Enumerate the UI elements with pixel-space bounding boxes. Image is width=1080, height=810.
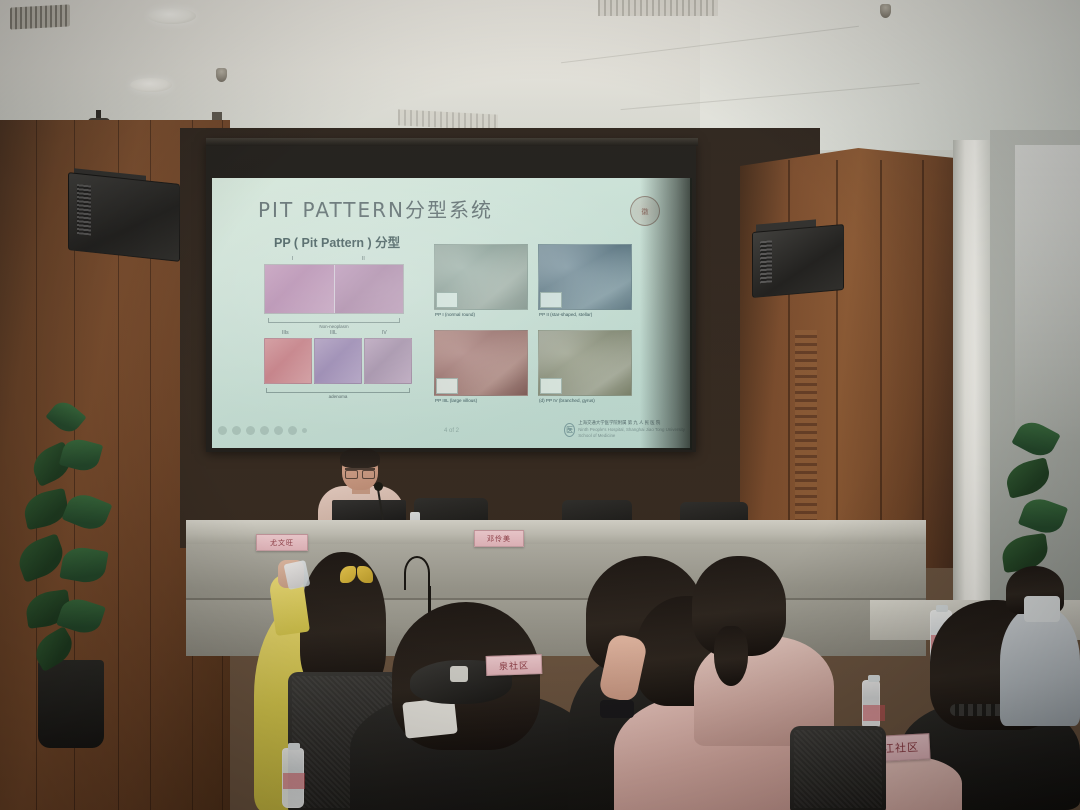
presenter-hair — [340, 448, 380, 468]
endoscopy-caption: PP I (normal round) — [435, 312, 475, 317]
histology-label: IV — [382, 330, 387, 336]
name-card: 尤文旺 — [256, 534, 308, 551]
right-wall-panel-seams — [740, 160, 955, 570]
zoom-icon[interactable] — [260, 426, 269, 435]
histology-label: II — [362, 256, 365, 262]
slides-icon[interactable] — [274, 426, 283, 435]
recessed-light — [130, 78, 172, 92]
speaker-grill — [77, 184, 91, 235]
bow-center-knot — [450, 666, 468, 682]
speaker-grill — [760, 240, 772, 283]
more-icon[interactable] — [288, 426, 297, 435]
slide-title: PIT PATTERN分型系统 — [258, 194, 493, 223]
water-bottle — [862, 680, 880, 730]
histology-image — [264, 338, 312, 384]
gooseneck-microphone — [404, 556, 430, 590]
histology-row-one — [264, 264, 404, 314]
histology-label: I — [292, 256, 293, 262]
name-card: 邓伶美 — [474, 530, 524, 547]
slide-subtitle: PP ( Pit Pattern ) 分型 — [274, 232, 400, 251]
glasses-icon — [345, 468, 375, 475]
pit-pattern-diagram-icon — [436, 292, 458, 308]
histology-image — [265, 265, 334, 313]
powerpoint-presenter-toolbar[interactable] — [218, 426, 307, 435]
histology-row-two — [264, 338, 412, 384]
highlighter-icon[interactable] — [232, 426, 241, 435]
histology-image — [314, 338, 362, 384]
endoscopy-caption: PP II (star-shaped, stellar) — [539, 312, 592, 317]
histology-caption: Non-neoplasm — [268, 324, 400, 329]
endoscopy-grid: PP I (normal round) PP II (star-shaped, … — [434, 244, 632, 404]
next-icon[interactable] — [302, 428, 307, 433]
sprinkler-head-icon — [880, 4, 891, 18]
histology-bracket — [268, 318, 400, 323]
endoscopy-caption: (d) PP IV (branched, gyrus) — [539, 398, 595, 403]
conference-room-scene: PIT PATTERN分型系统 PP ( Pit Pattern ) 分型 徽 … — [0, 0, 1080, 810]
histology-image — [334, 265, 404, 313]
pit-pattern-diagram-icon — [540, 292, 562, 308]
mesh-chair-back — [790, 726, 886, 810]
window-light — [1015, 145, 1080, 445]
bottle-cap — [288, 743, 300, 750]
pointer-icon[interactable] — [246, 426, 255, 435]
bow-left — [340, 566, 356, 583]
wall-speaker-right-icon — [752, 224, 844, 298]
sprinkler-head-icon — [216, 68, 227, 82]
ponytail — [714, 626, 748, 686]
wristwatch — [600, 700, 634, 718]
air-vent-icon — [10, 4, 70, 29]
face-mask-icon — [1024, 596, 1060, 622]
screen-roller-bar — [206, 138, 698, 146]
pen-icon[interactable] — [218, 426, 227, 435]
projected-slide: PIT PATTERN分型系统 PP ( Pit Pattern ) 分型 徽 … — [212, 178, 690, 448]
plant-pot — [38, 660, 104, 748]
bottle-cap — [868, 675, 880, 682]
histology-bracket — [266, 388, 410, 393]
microphone-icon — [374, 482, 383, 491]
hair-bow — [340, 566, 374, 584]
water-bottle — [282, 748, 304, 808]
screen-shadow-edge — [640, 178, 692, 450]
slide-page-number: 4 of 2 — [444, 428, 459, 434]
wall-speaker-left-icon — [68, 172, 180, 262]
air-vent-icon — [598, 0, 718, 16]
bow-right — [357, 566, 373, 583]
histology-caption: adenoma — [266, 394, 410, 399]
histology-label: IIIs — [282, 330, 289, 336]
bottle-cap — [936, 605, 948, 612]
name-card: 泉社区 — [486, 654, 543, 676]
pit-pattern-diagram-icon — [436, 378, 458, 394]
hospital-mark-icon: 医 — [564, 423, 575, 437]
histology-label: IIIL — [330, 330, 337, 336]
histology-image — [364, 338, 412, 384]
wall-pillar — [953, 140, 993, 610]
recessed-light — [148, 8, 196, 24]
pit-pattern-diagram-icon — [540, 378, 562, 394]
chair-mesh — [794, 730, 882, 808]
audience-body — [1000, 606, 1080, 726]
endoscopy-caption: PP IIIL (large villous) — [435, 398, 477, 403]
